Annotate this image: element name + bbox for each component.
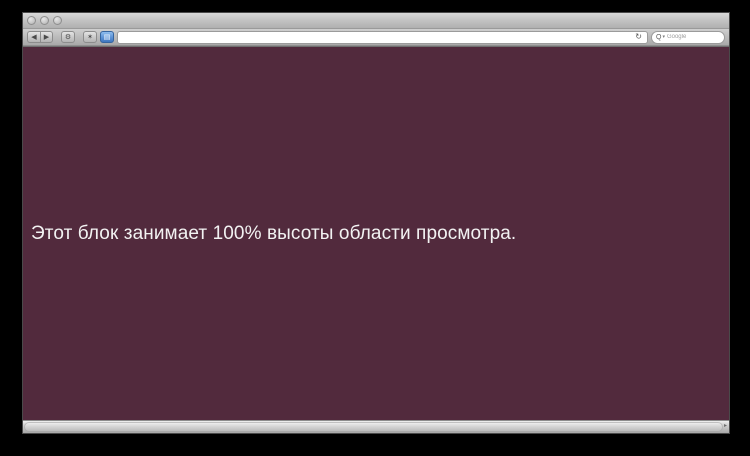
- chevron-down-icon[interactable]: ▾: [662, 35, 665, 40]
- page-viewport: Этот блок занимает 100% высоты области п…: [23, 46, 729, 420]
- window-titlebar: [23, 13, 729, 29]
- screenshot-root: ◀ ▶ ⚙ ✶ ▤ ↻ Q ▾ Google Этот блок занимае…: [0, 0, 750, 456]
- navigation-button-group: ◀ ▶: [27, 31, 53, 43]
- address-bar[interactable]: ↻: [117, 31, 648, 44]
- block-text: Этот блок занимает 100% высоты области п…: [23, 223, 516, 245]
- reload-icon[interactable]: ↻: [633, 33, 644, 41]
- minimize-button-icon[interactable]: [40, 16, 49, 25]
- bookmark-star-icon[interactable]: ✶: [83, 31, 97, 43]
- search-field[interactable]: Q ▾ Google: [651, 31, 725, 44]
- forward-button[interactable]: ▶: [40, 31, 53, 43]
- browser-window: ◀ ▶ ⚙ ✶ ▤ ↻ Q ▾ Google Этот блок занимае…: [22, 12, 730, 434]
- scroll-right-arrow-icon[interactable]: ▸: [724, 423, 727, 429]
- gear-icon[interactable]: ⚙: [61, 31, 75, 43]
- toolbar-separator: [78, 31, 80, 43]
- sidebar-toggle-icon[interactable]: ▤: [100, 31, 114, 43]
- browser-toolbar: ◀ ▶ ⚙ ✶ ▤ ↻ Q ▾ Google: [23, 29, 729, 46]
- search-input[interactable]: Google: [667, 34, 686, 40]
- scrollbar-thumb[interactable]: [24, 422, 723, 432]
- zoom-button-icon[interactable]: [53, 16, 62, 25]
- search-icon: Q: [656, 34, 661, 41]
- toolbar-separator: [56, 31, 58, 43]
- full-height-block: Этот блок занимает 100% высоты области п…: [23, 47, 729, 420]
- close-button-icon[interactable]: [27, 16, 36, 25]
- horizontal-scrollbar[interactable]: ▸: [23, 420, 729, 433]
- back-button[interactable]: ◀: [27, 31, 40, 43]
- window-controls: [27, 16, 62, 25]
